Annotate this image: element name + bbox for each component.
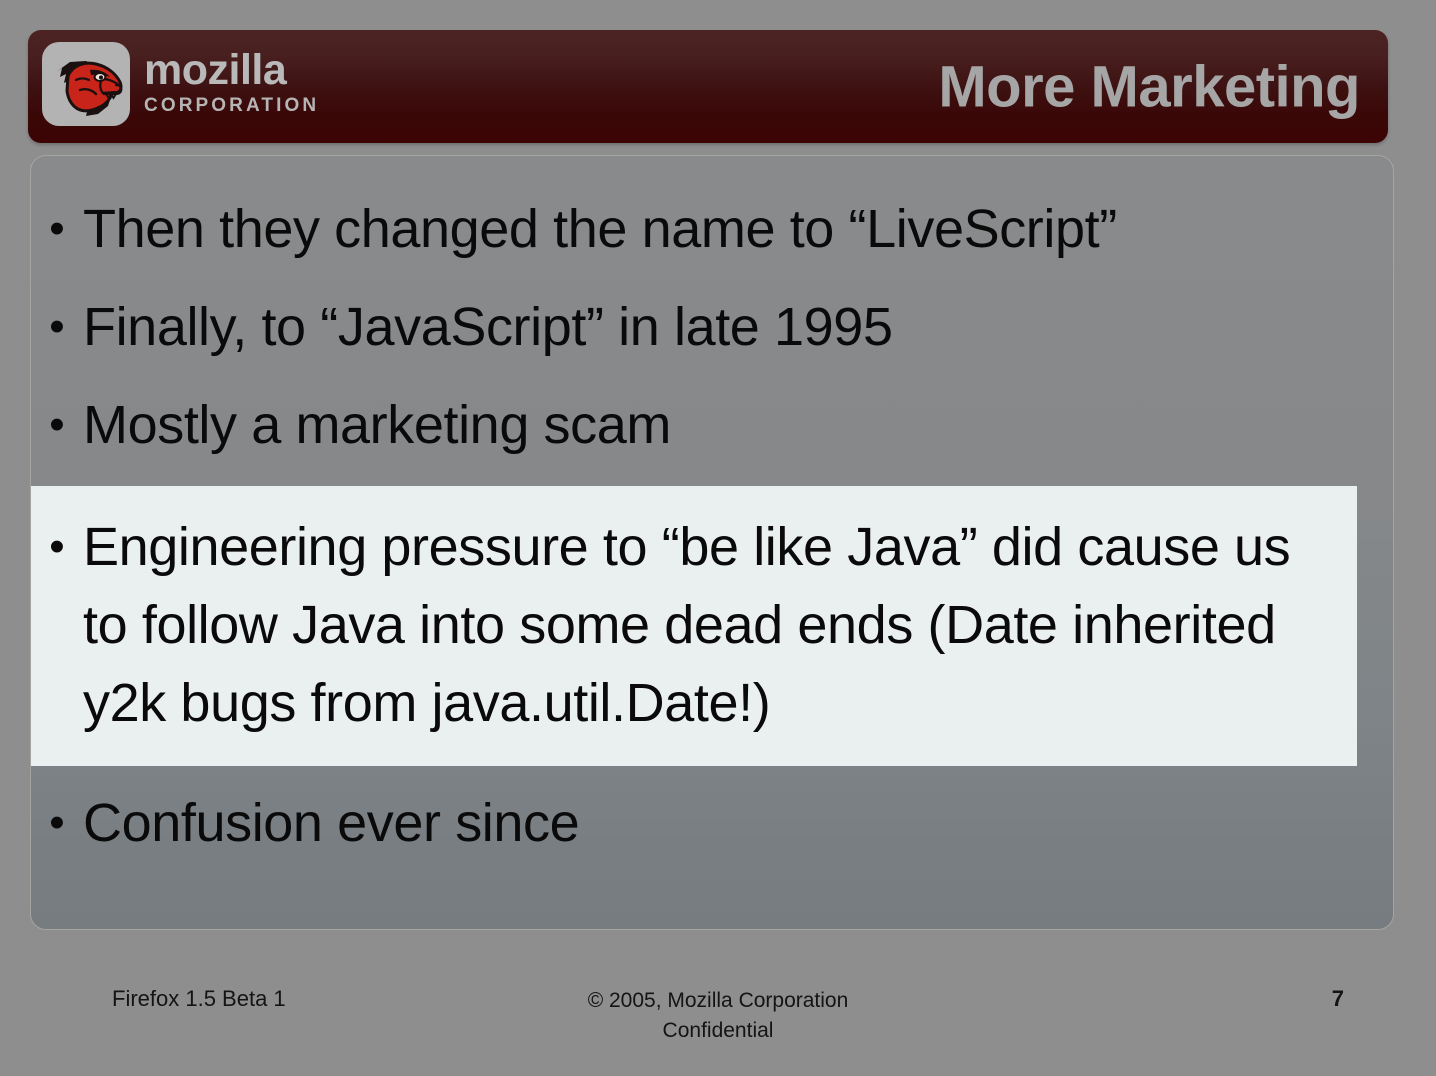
page-number: 7: [1332, 986, 1344, 1012]
page-title: More Marketing: [938, 53, 1360, 120]
mozilla-dinosaur-icon: [42, 42, 130, 126]
bullet-list: • Then they changed the name to “LiveScr…: [31, 156, 1393, 862]
wordmark-corporation: CORPORATION: [144, 96, 319, 115]
footer-copyright-line1: © 2005, Mozilla Corporation: [0, 986, 1436, 1016]
list-item-text: Then they changed the name to “LiveScrip…: [83, 190, 1393, 268]
bullet-dot-icon: •: [31, 190, 83, 268]
list-item-text: Finally, to “JavaScript” in late 1995: [83, 288, 1393, 366]
slide-header-bar: mozilla CORPORATION More Marketing: [28, 30, 1388, 143]
slide-footer: Firefox 1.5 Beta 1 © 2005, Mozilla Corpo…: [0, 972, 1436, 1062]
mozilla-brand-lockup: mozilla CORPORATION: [42, 42, 319, 126]
list-item-highlighted: • Engineering pressure to “be like Java”…: [31, 486, 1357, 766]
presentation-slide: mozilla CORPORATION More Marketing • The…: [0, 0, 1436, 1076]
wordmark-mozilla: mozilla: [144, 49, 319, 92]
bullet-dot-icon: •: [31, 508, 83, 586]
bullet-dot-icon: •: [31, 386, 83, 464]
list-item: • Finally, to “JavaScript” in late 1995: [31, 288, 1393, 366]
list-item: • Then they changed the name to “LiveScr…: [31, 190, 1393, 268]
mozilla-wordmark: mozilla CORPORATION: [144, 49, 319, 119]
list-item: • Mostly a marketing scam: [31, 386, 1393, 464]
footer-copyright: © 2005, Mozilla Corporation Confidential: [0, 986, 1436, 1047]
bullet-dot-icon: •: [31, 288, 83, 366]
list-item-text: Confusion ever since: [83, 784, 1393, 862]
slide-body-panel: • Then they changed the name to “LiveScr…: [30, 155, 1394, 930]
list-item-text: Engineering pressure to “be like Java” d…: [83, 508, 1357, 742]
list-item-text: Mostly a marketing scam: [83, 386, 1393, 464]
bullet-dot-icon: •: [31, 784, 83, 862]
footer-confidential-label: Confidential: [0, 1016, 1436, 1046]
list-item: • Confusion ever since: [31, 784, 1393, 862]
